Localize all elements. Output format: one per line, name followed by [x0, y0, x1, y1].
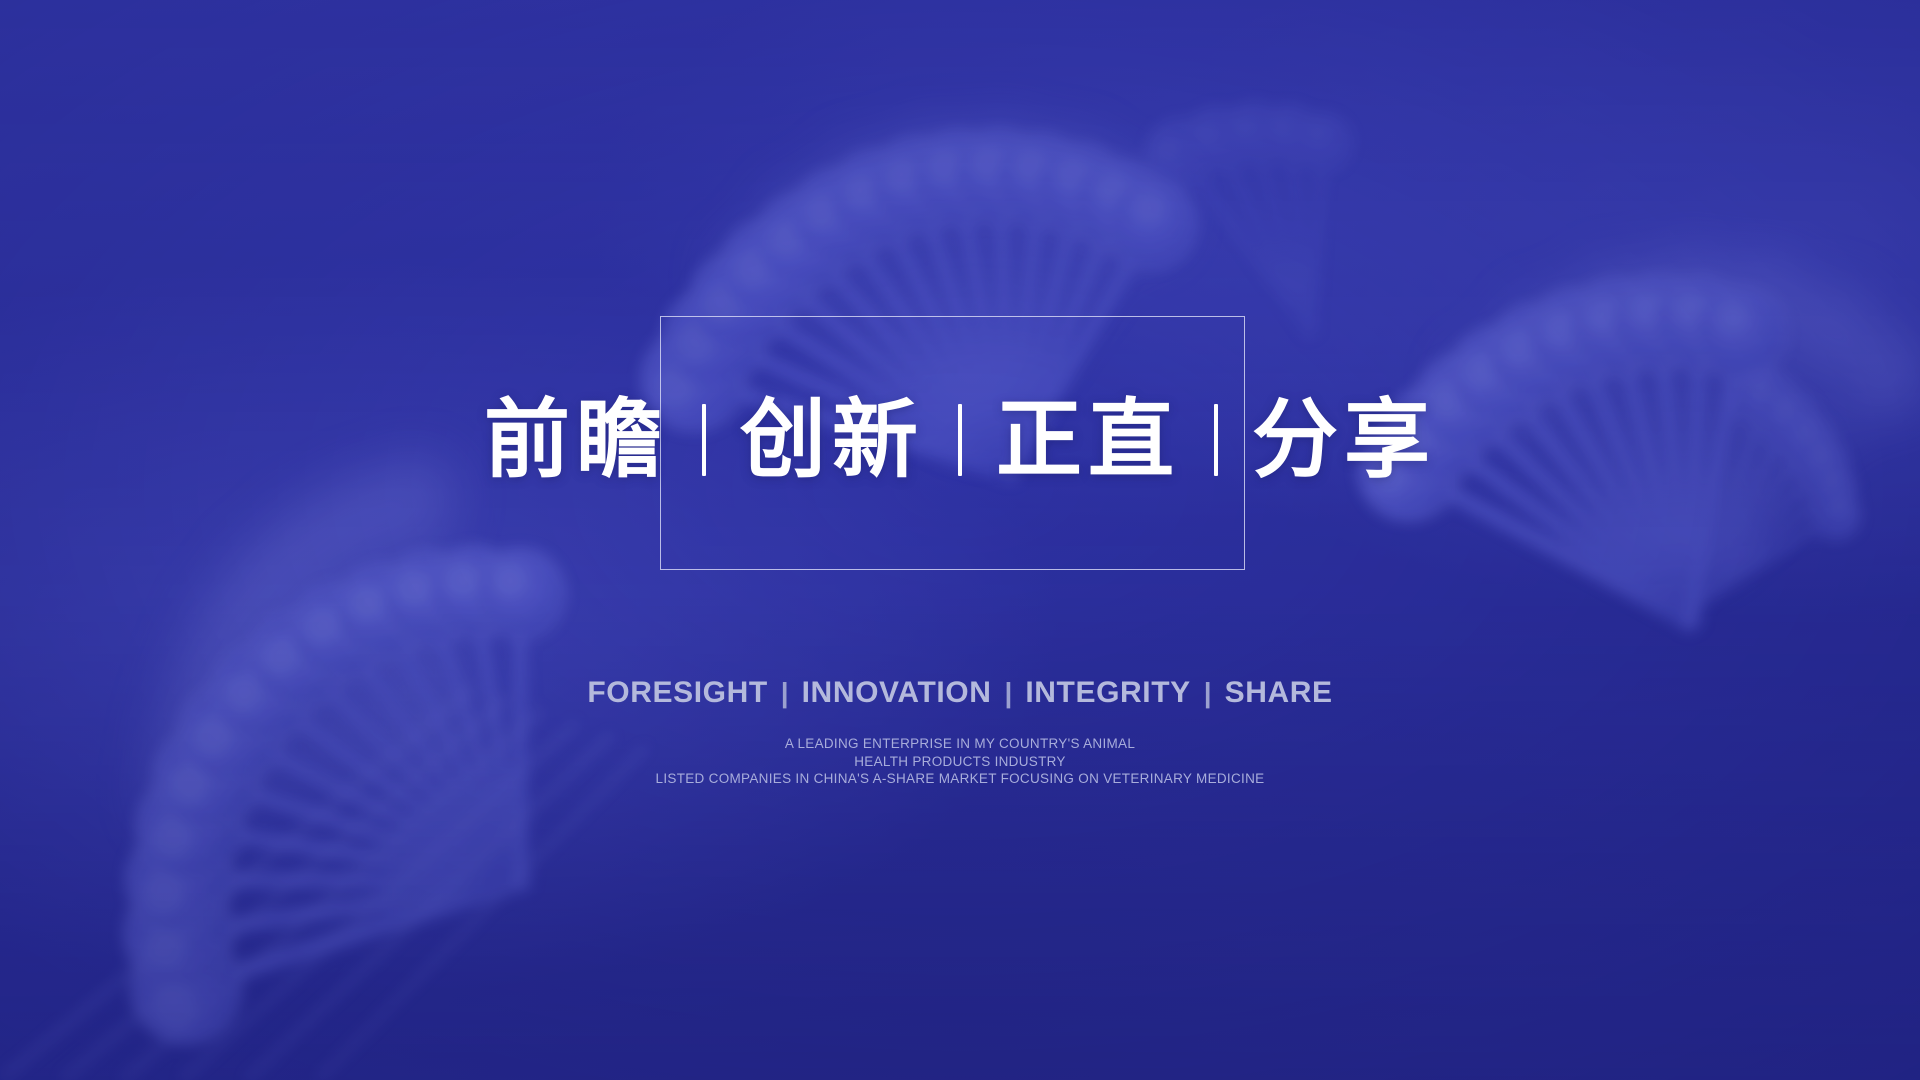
tagline-line-2: HEALTH PRODUCTS INDUSTRY: [0, 753, 1920, 771]
headline-english: FORESIGHT | INNOVATION | INTEGRITY | SHA…: [0, 676, 1920, 710]
slide-content: 前瞻 创新 正直 分享 FORESIGHT | INNOVATION | INT…: [0, 0, 1920, 1080]
value-word-share-cn: 分享: [1252, 397, 1436, 483]
value-word-share-en: SHARE: [1225, 676, 1333, 710]
value-word-foresight-cn: 前瞻: [484, 397, 668, 483]
tagline-line-3: LISTED COMPANIES IN CHINA'S A-SHARE MARK…: [0, 770, 1920, 788]
headline-en-separator: |: [781, 677, 789, 709]
headline-separator-icon: [1214, 404, 1218, 476]
value-word-integrity-cn: 正直: [996, 397, 1180, 483]
tagline-block: A LEADING ENTERPRISE IN MY COUNTRY'S ANI…: [0, 735, 1920, 788]
slide-canvas: 前瞻 创新 正直 分享 FORESIGHT | INNOVATION | INT…: [0, 0, 1920, 1080]
value-word-innovation-cn: 创新: [740, 397, 924, 483]
value-word-foresight-en: FORESIGHT: [587, 676, 767, 710]
headline-chinese: 前瞻 创新 正直 分享: [0, 380, 1920, 500]
tagline-line-1: A LEADING ENTERPRISE IN MY COUNTRY'S ANI…: [0, 735, 1920, 753]
value-word-integrity-en: INTEGRITY: [1025, 676, 1190, 710]
headline-separator-icon: [702, 404, 706, 476]
value-word-innovation-en: INNOVATION: [802, 676, 992, 710]
headline-en-separator: |: [1204, 677, 1212, 709]
headline-separator-icon: [958, 404, 962, 476]
headline-en-separator: |: [1005, 677, 1013, 709]
